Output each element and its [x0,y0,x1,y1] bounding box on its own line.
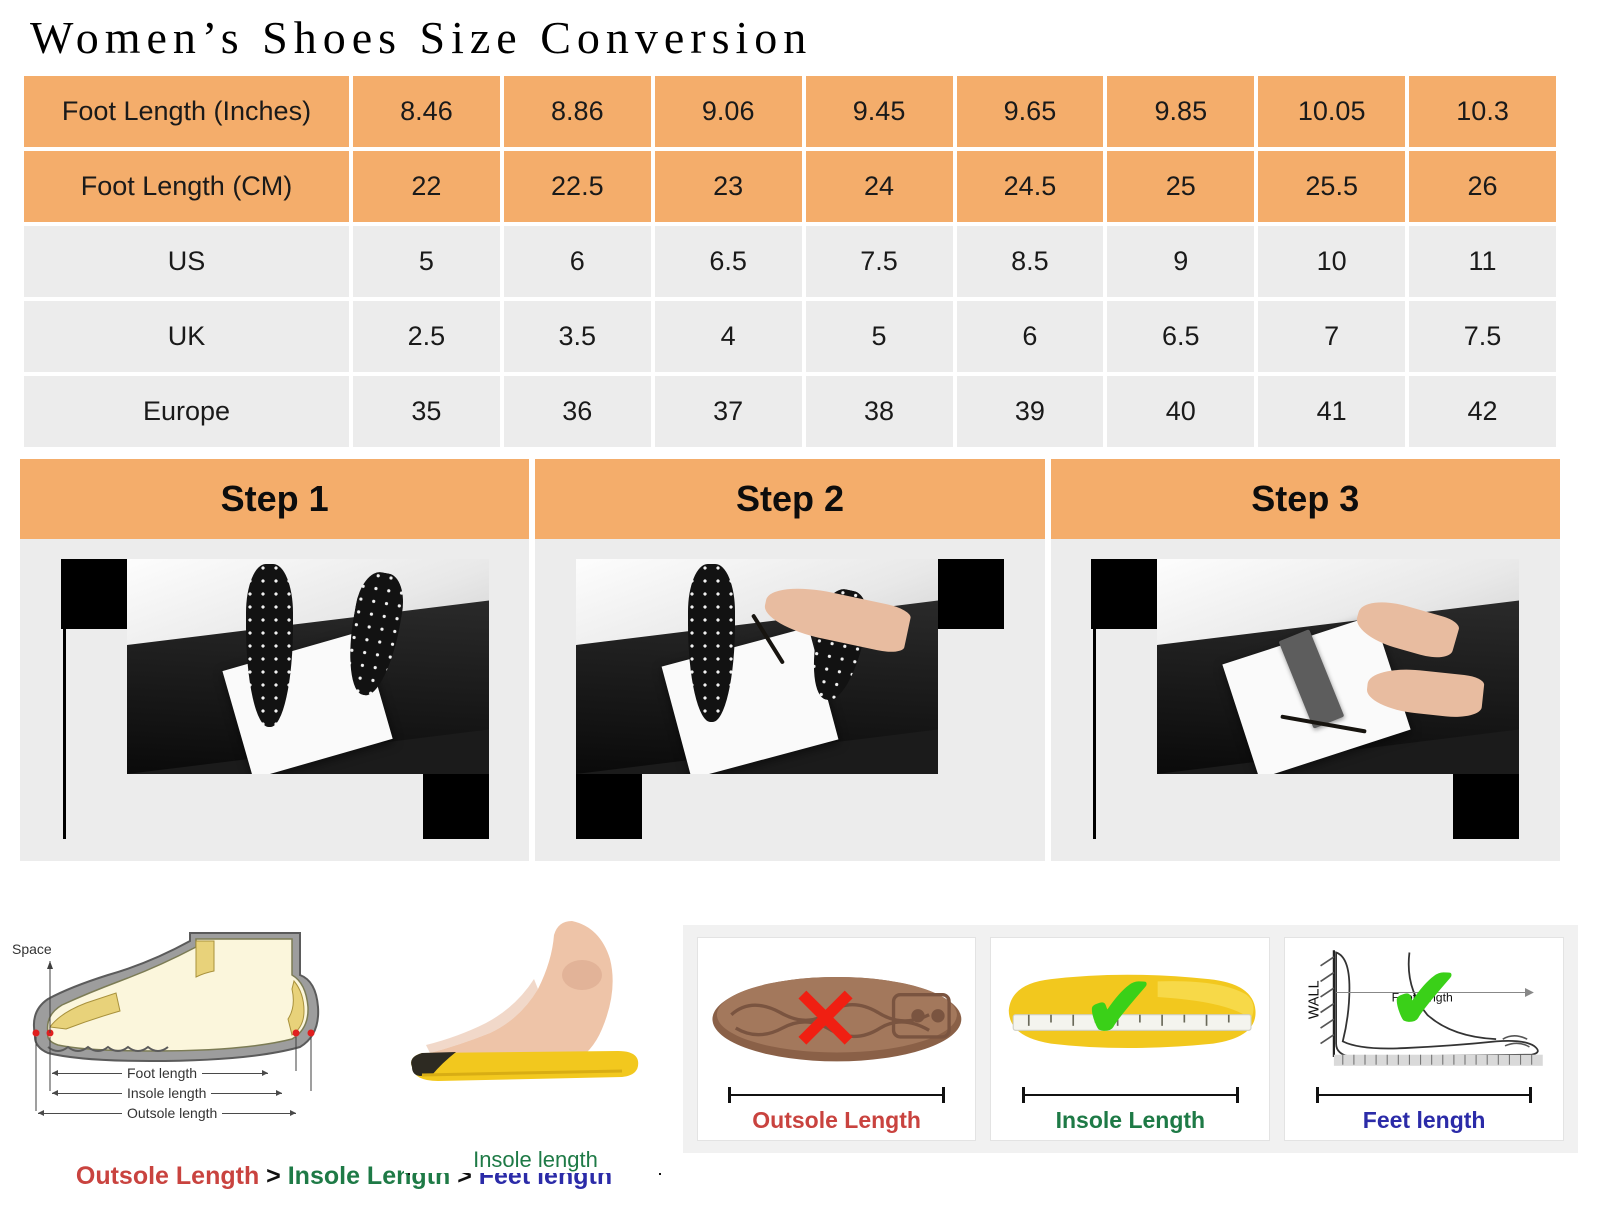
compare-card-feet: WALL Foot length ✔ Feet length [1284,937,1564,1141]
table-cell: 3.5 [504,301,651,372]
outsole-caption: Outsole Length [752,1107,921,1134]
corner-block [576,769,642,839]
insole-length-caption: Insole length [404,1147,667,1173]
table-cell: 37 [655,376,802,447]
table-cell: 9.85 [1107,76,1254,147]
step-2-photo-frame [576,555,1004,845]
table-cell: 10.3 [1409,76,1556,147]
step-heading: Step 2 [535,459,1044,539]
table-cell: 7.5 [806,226,953,297]
size-table-body: Foot Length (Inches) 8.46 8.86 9.06 9.45… [24,76,1556,447]
green-check-icon: ✔ [1083,965,1155,1051]
table-cell: 23 [655,151,802,222]
table-cell: 4 [655,301,802,372]
measurement-comparison-panel: ✕ Outsole Length [675,915,1600,1207]
page-title: Women’s Shoes Size Conversion [0,0,1600,72]
outsole-measure-bar [728,1087,945,1103]
row-label: Foot Length (Inches) [24,76,349,147]
table-cell: 9 [1107,226,1254,297]
red-x-icon: ✕ [789,977,861,1063]
table-cell: 9.45 [806,76,953,147]
table-cell: 5 [353,226,500,297]
foot-insole-panel: Insole length [386,915,675,1207]
row-label: UK [24,301,349,372]
step-body-1 [20,539,529,861]
table-cell: 10 [1258,226,1405,297]
step-body-3 [1051,539,1560,861]
row-label: Europe [24,376,349,447]
table-cell: 36 [504,376,651,447]
table-cell: 24.5 [957,151,1104,222]
table-cell: 5 [806,301,953,372]
step-column-2: Step 2 [535,459,1044,861]
table-row: Europe 35 36 37 38 39 40 41 42 [24,376,1556,447]
space-label: Space [12,941,52,957]
step-column-3: Step 3 [1051,459,1560,861]
feet-caption: Feet length [1363,1107,1486,1134]
foot-on-insole-illustration [386,917,696,1117]
compare-card-outsole: ✕ Outsole Length [697,937,977,1141]
size-conversion-table: Foot Length (Inches) 8.46 8.86 9.06 9.45… [20,72,1560,451]
tracing-foot-photo [576,559,938,773]
table-cell: 25 [1107,151,1254,222]
table-cell: 8.5 [957,226,1104,297]
compare-strip: ✕ Outsole Length [683,925,1578,1153]
table-cell: 39 [957,376,1104,447]
table-cell: 8.86 [504,76,651,147]
table-cell: 24 [806,151,953,222]
outsole-length-label: Outsole length [122,1105,222,1121]
row-label: Foot Length (CM) [24,151,349,222]
table-cell: 42 [1409,376,1556,447]
row-label: US [24,226,349,297]
table-row: UK 2.5 3.5 4 5 6 6.5 7 7.5 [24,301,1556,372]
insole-art: ✔ [991,938,1269,1087]
legend-sep-1: > [266,1162,281,1190]
table-cell: 38 [806,376,953,447]
table-cell: 9.06 [655,76,802,147]
table-cell: 6 [957,301,1104,372]
table-cell: 7 [1258,301,1405,372]
shoe-cross-section-panel: Space Foot length Insole length Outsole … [0,915,386,1207]
table-cell: 10.05 [1258,76,1405,147]
table-cell: 9.65 [957,76,1104,147]
table-row: Foot Length (Inches) 8.46 8.86 9.06 9.45… [24,76,1556,147]
svg-text:WALL: WALL [1307,980,1323,1019]
table-cell: 26 [1409,151,1556,222]
frame-rule [63,629,66,839]
table-row: US 5 6 6.5 7.5 8.5 9 10 11 [24,226,1556,297]
feet-on-paper-photo [127,559,489,773]
step-body-2 [535,539,1044,861]
step-column-1: Step 1 [20,459,529,861]
table-cell: 22 [353,151,500,222]
corner-block [1453,769,1519,839]
compare-card-insole: ✔ Insole Length [990,937,1270,1141]
steps-section: Step 1 Step 2 [20,459,1560,861]
insole-length-label: Insole length [122,1085,211,1101]
bottom-section: Space Foot length Insole length Outsole … [0,915,1600,1207]
step-3-photo-frame [1091,555,1519,845]
foot-length-label: Foot length [122,1065,202,1081]
frame-rule [1093,629,1096,839]
feet-measure-bar [1316,1087,1533,1103]
table-cell: 41 [1258,376,1405,447]
step-1-photo-frame [61,555,489,845]
table-cell: 22.5 [504,151,651,222]
table-cell: 40 [1107,376,1254,447]
outsole-art: ✕ [698,938,976,1087]
table-cell: 6.5 [1107,301,1254,372]
corner-block [938,559,1004,629]
step-heading: Step 1 [20,459,529,539]
table-cell: 35 [353,376,500,447]
corner-block [423,769,489,839]
step-heading: Step 3 [1051,459,1560,539]
legend-outsole: Outsole Length [76,1162,259,1190]
table-cell: 11 [1409,226,1556,297]
table-cell: 7.5 [1409,301,1556,372]
table-cell: 8.46 [353,76,500,147]
ruler-measurement-photo [1157,559,1519,773]
corner-block [61,559,127,629]
table-cell: 6.5 [655,226,802,297]
table-cell: 6 [504,226,651,297]
table-cell: 2.5 [353,301,500,372]
corner-block [1091,559,1157,629]
feet-measure-art: WALL Foot length ✔ [1285,938,1563,1087]
table-cell: 25.5 [1258,151,1405,222]
table-row: Foot Length (CM) 22 22.5 23 24 24.5 25 2… [24,151,1556,222]
green-check-icon: ✔ [1388,956,1460,1042]
insole-caption: Insole Length [1056,1107,1206,1134]
insole-measure-bar [1022,1087,1239,1103]
